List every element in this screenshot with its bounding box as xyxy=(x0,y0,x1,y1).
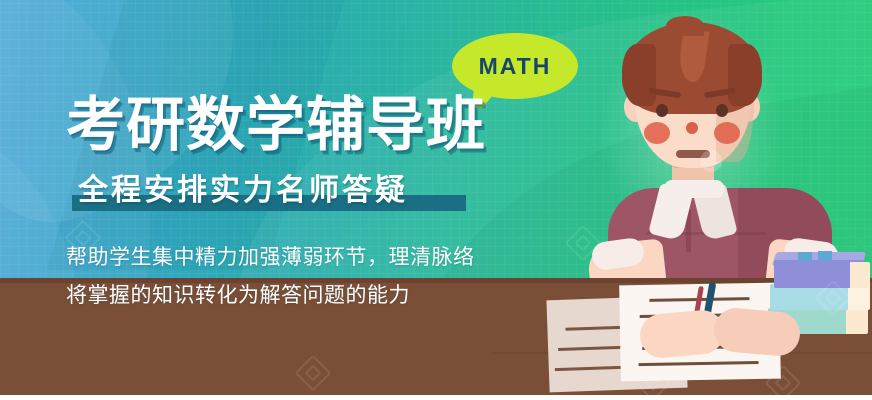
description-line-1: 帮助学生集中精力加强薄弱环节，理清脉络 xyxy=(66,243,536,273)
speech-bubble-label: MATH xyxy=(452,33,578,99)
student-hands-layer xyxy=(588,0,872,400)
description-line-2: 将掌握的知识转化为解答问题的能力 xyxy=(66,281,536,311)
character-hand-right xyxy=(712,306,802,357)
description-block: 帮助学生集中精力加强薄弱环节，理清脉络 将掌握的知识转化为解答问题的能力 xyxy=(66,243,536,311)
character-hand-left xyxy=(638,308,726,359)
promo-banner: MATH xyxy=(0,0,872,400)
subtitle: 全程安排实力名师答疑 xyxy=(66,171,536,211)
page-title: 考研数学辅导班 xyxy=(66,96,536,155)
subtitle-container: 全程安排实力名师答疑 xyxy=(66,171,536,217)
headline-block: 考研数学辅导班 全程安排实力名师答疑 帮助学生集中精力加强薄弱环节，理清脉络 将… xyxy=(66,96,536,319)
math-speech-bubble: MATH xyxy=(452,33,578,99)
